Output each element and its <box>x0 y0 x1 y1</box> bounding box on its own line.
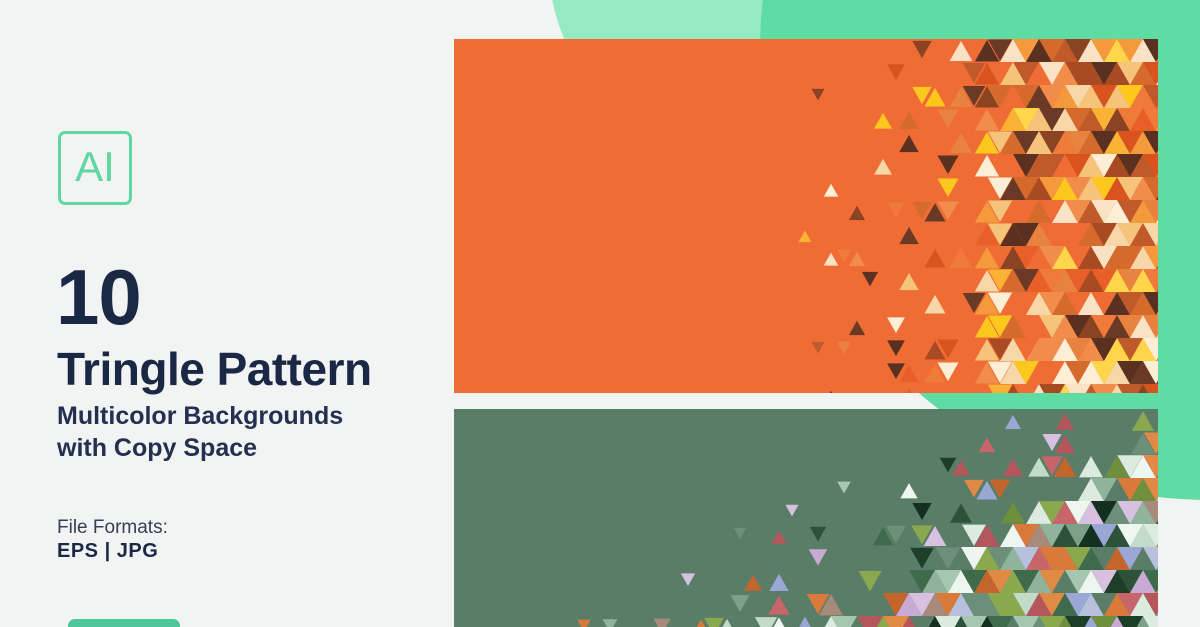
page-subtitle: Multicolor Backgroundswith Copy Space <box>57 401 437 465</box>
file-formats-label: File Formats: <box>57 518 168 537</box>
green-pattern-canvas <box>454 409 1158 627</box>
cta-button[interactable] <box>68 619 180 627</box>
info-panel: AI 10 Tringle Pattern Multicolor Backgro… <box>0 0 454 627</box>
item-count-heading: 10 <box>56 258 141 336</box>
ai-badge-label: AI <box>75 146 115 188</box>
orange-pattern-canvas <box>454 39 1158 393</box>
product-preview-banner: AI 10 Tringle Pattern Multicolor Backgro… <box>0 0 1200 627</box>
file-formats-value: EPS | JPG <box>57 541 158 561</box>
preview-green-triangle-pattern <box>454 409 1158 627</box>
ai-format-badge: AI <box>58 131 132 205</box>
preview-orange-triangle-pattern <box>454 39 1158 393</box>
page-title: Tringle Pattern <box>57 346 372 392</box>
